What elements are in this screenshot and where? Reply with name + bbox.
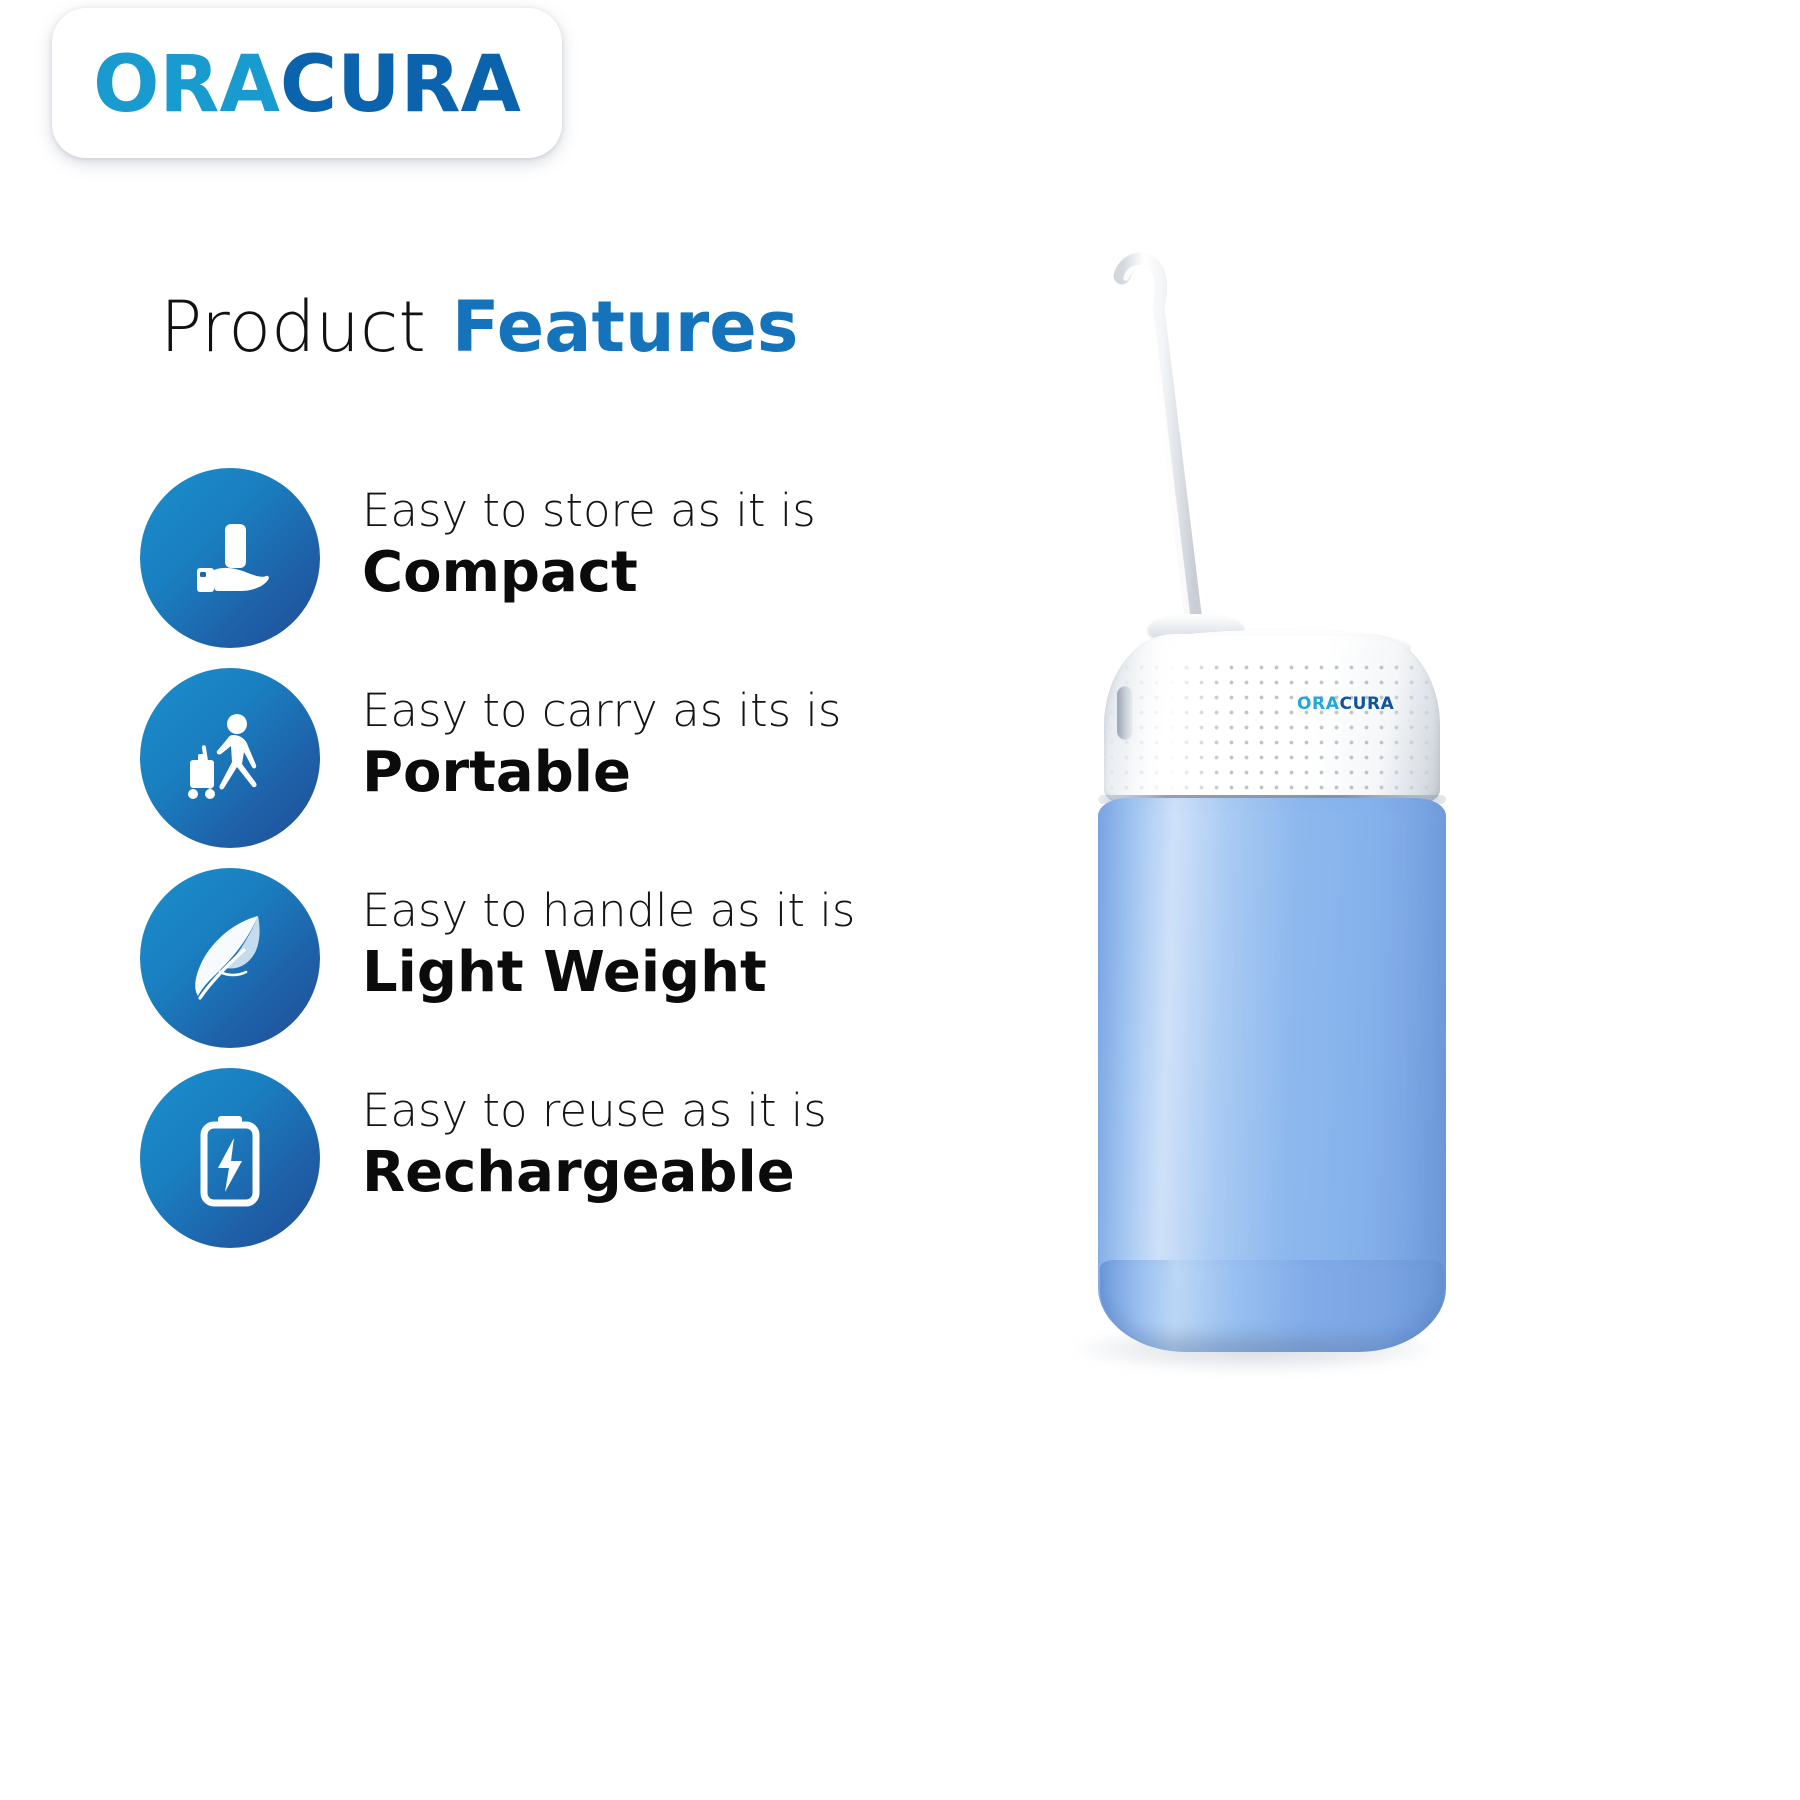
feature-lead: Easy to store as it is bbox=[362, 486, 922, 536]
brand-logo-cura: CURA bbox=[280, 40, 521, 130]
feature-list: Easy to store as it is Compact Easy to c… bbox=[140, 462, 940, 1262]
product-image: ORACURA bbox=[1020, 250, 1540, 1390]
feature-strong: Light Weight bbox=[362, 940, 922, 1006]
feature-text-compact: Easy to store as it is Compact bbox=[362, 486, 922, 606]
page-title-light: Product bbox=[160, 286, 426, 368]
nozzle-icon bbox=[1056, 250, 1276, 670]
feature-strong: Portable bbox=[362, 740, 922, 806]
feature-lead: Easy to handle as it is bbox=[362, 886, 922, 936]
page-title-accent: Features bbox=[452, 286, 799, 368]
feather-icon bbox=[140, 868, 320, 1048]
feature-lead: Easy to carry as its is bbox=[362, 686, 922, 736]
feature-item-portable: Easy to carry as its is Portable bbox=[140, 662, 940, 862]
brand-logo-ora: ORA bbox=[93, 40, 280, 130]
device-brand-ora: ORA bbox=[1297, 694, 1340, 714]
feature-strong: Compact bbox=[362, 540, 922, 606]
battery-charging-icon bbox=[140, 1068, 320, 1248]
feature-item-compact: Easy to store as it is Compact bbox=[140, 462, 940, 662]
feature-item-light-weight: Easy to handle as it is Light Weight bbox=[140, 862, 940, 1062]
feature-text-rechargeable: Easy to reuse as it is Rechargeable bbox=[362, 1086, 922, 1206]
page-title: ProductFeatures bbox=[160, 292, 798, 362]
feature-lead: Easy to reuse as it is bbox=[362, 1086, 922, 1136]
power-button[interactable] bbox=[1117, 686, 1134, 740]
hand-holding-device-icon bbox=[140, 468, 320, 648]
product-shadow bbox=[1075, 1326, 1435, 1372]
traveler-with-luggage-icon bbox=[140, 668, 320, 848]
device-head: ORACURA bbox=[1104, 634, 1440, 804]
brand-logo-text: ORACURA bbox=[93, 42, 521, 124]
feature-strong: Rechargeable bbox=[362, 1140, 922, 1206]
feature-text-portable: Easy to carry as its is Portable bbox=[362, 686, 922, 806]
feature-item-rechargeable: Easy to reuse as it is Rechargeable bbox=[140, 1062, 940, 1262]
brand-logo-badge: ORACURA bbox=[52, 8, 562, 158]
device-brand-cura: CURA bbox=[1340, 694, 1395, 714]
device-brand-logo: ORACURA bbox=[1297, 694, 1394, 714]
head-dot-texture bbox=[1104, 660, 1440, 800]
feature-text-light-weight: Easy to handle as it is Light Weight bbox=[362, 886, 922, 1006]
